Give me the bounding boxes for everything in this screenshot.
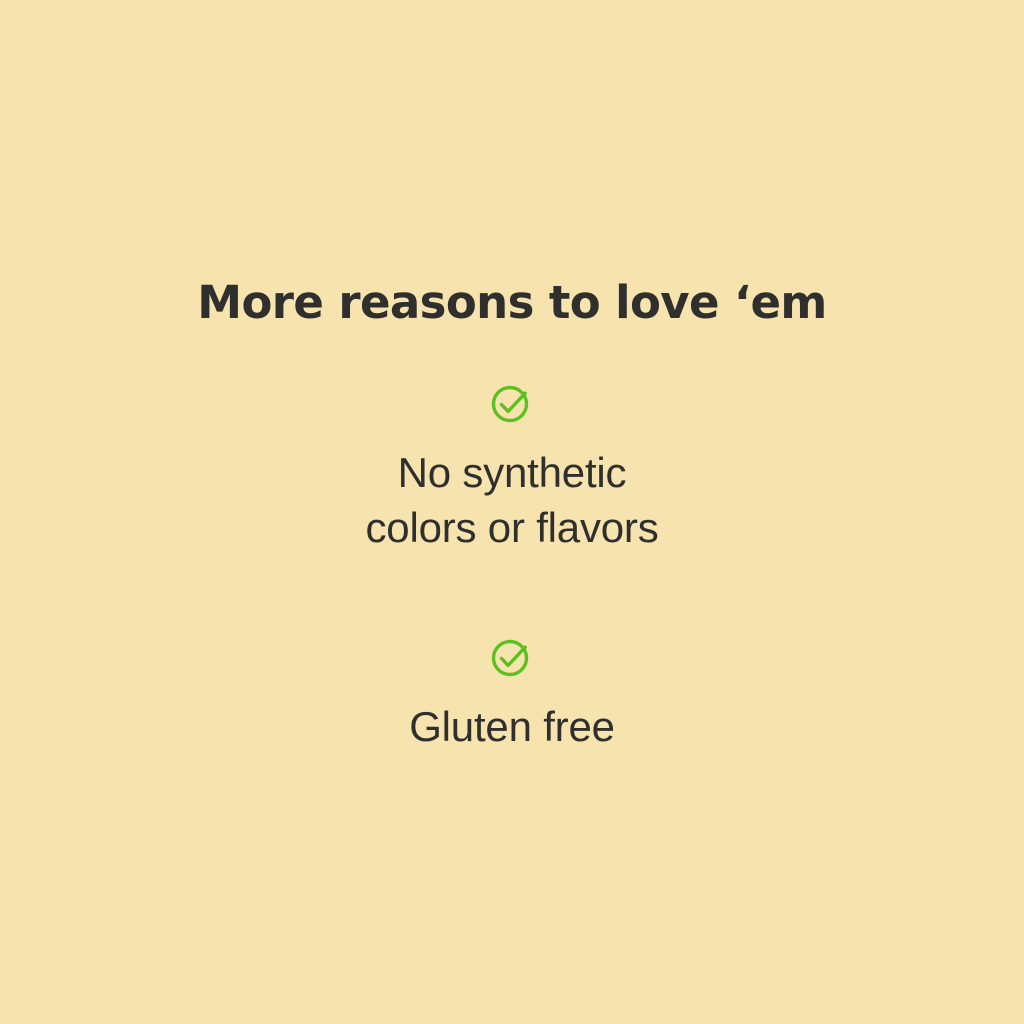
benefit-item-gluten-free: Gluten free xyxy=(0,637,1024,754)
page-title: More reasons to love ‘em xyxy=(0,274,1024,332)
check-circle-icon xyxy=(488,383,536,425)
benefit-item-no-synthetic: No synthetic colors or flavors xyxy=(0,383,1024,555)
benefit-label: Gluten free xyxy=(409,699,615,754)
benefit-label: No synthetic colors or flavors xyxy=(365,445,658,555)
promo-card: More reasons to love ‘em No synthetic co… xyxy=(0,0,1024,1024)
check-circle-icon xyxy=(488,637,536,679)
